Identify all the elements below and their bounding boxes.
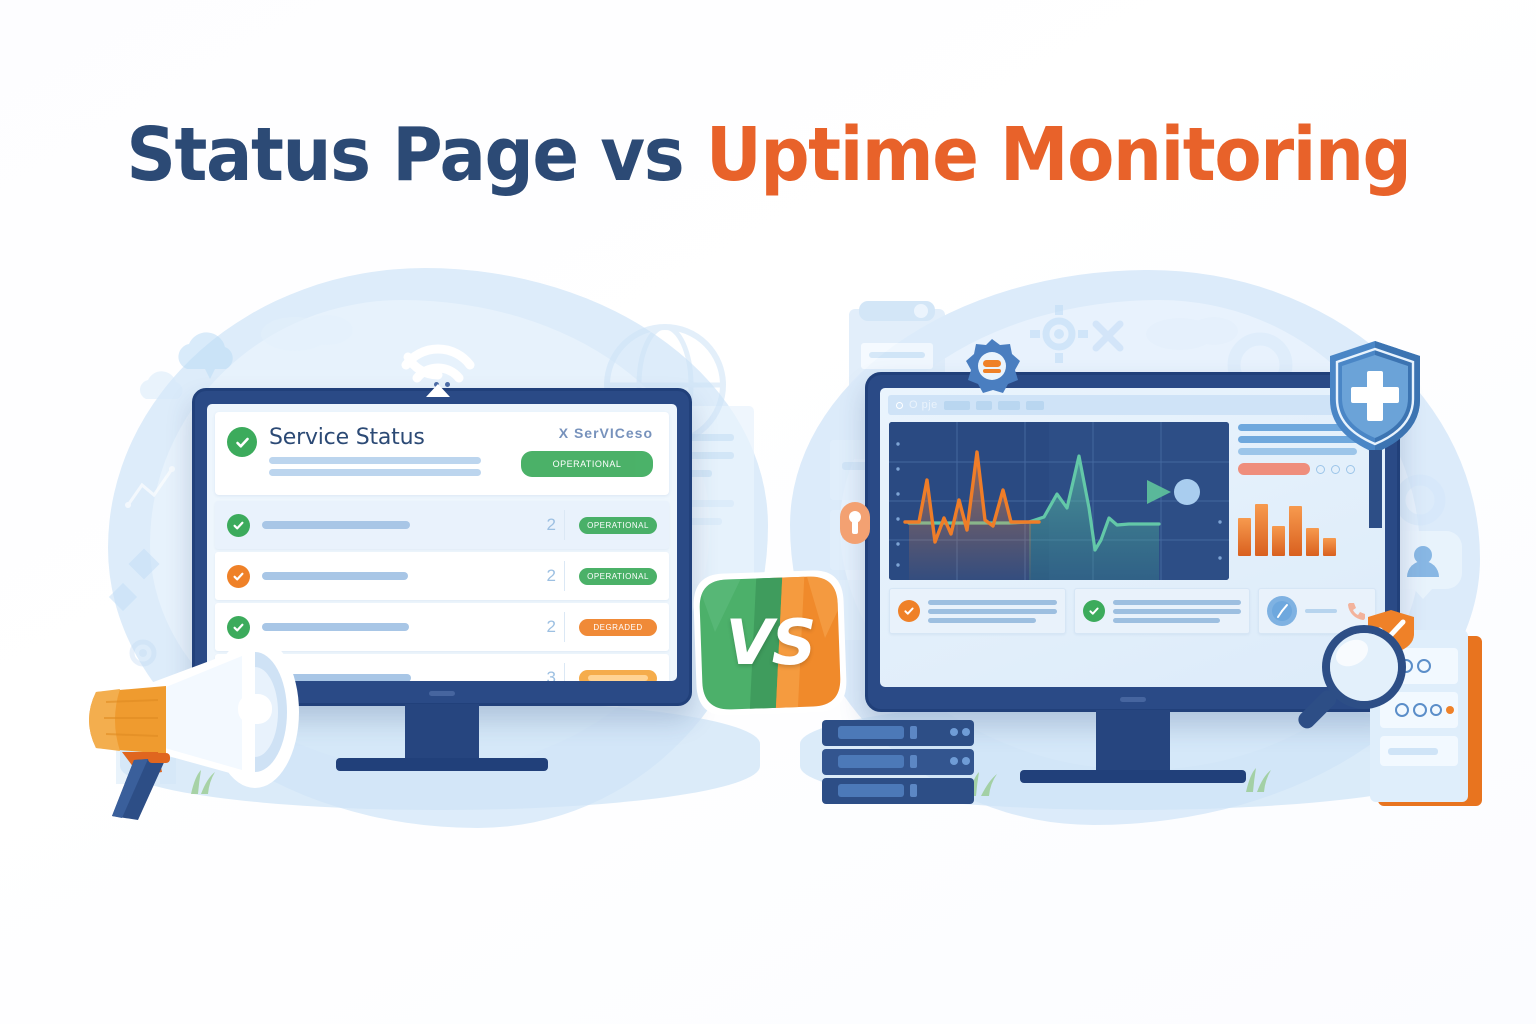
card-text-lines [1113, 600, 1242, 623]
magnifying-glass-icon [1290, 615, 1420, 745]
circle-icon [1346, 465, 1355, 474]
row-status-pill[interactable]: Operational [579, 568, 657, 585]
topbar-label: O pje [909, 399, 938, 411]
row-divider [564, 663, 565, 681]
row-status-pill[interactable]: Degraded [579, 619, 657, 636]
bar [1272, 526, 1285, 556]
row-divider [564, 561, 565, 591]
vs-badge: VS [685, 562, 855, 727]
topbar-segment [998, 401, 1020, 410]
row-divider [564, 510, 565, 540]
card-text-lines [928, 600, 1057, 623]
card-check-icon [1083, 600, 1105, 622]
bar [1255, 504, 1268, 556]
table-row[interactable]: 2 Operational [215, 501, 669, 549]
monitor-stand-neck [405, 704, 479, 760]
topbar-segment [1026, 401, 1044, 410]
topbar-segment [976, 401, 992, 410]
dashboard-topbar: O pje [888, 395, 1377, 415]
row-status-pill-label: Operational [587, 572, 649, 581]
response-time-chart [889, 422, 1229, 580]
megaphone-icon [62, 630, 342, 830]
card-check-icon [898, 600, 920, 622]
service-status-title: Service Status [269, 425, 481, 450]
status-card[interactable] [1074, 588, 1251, 634]
grass-icon [1240, 766, 1280, 792]
title-part-navy: Status Page vs [126, 112, 706, 198]
gear-icon [1030, 305, 1088, 363]
row-label-bar [262, 521, 410, 529]
side-pill-row [1238, 463, 1376, 475]
row-check-icon [227, 565, 250, 588]
brand-area: X SerVICeso Operational [521, 425, 655, 477]
title-part-orange: Uptime Monitoring [705, 112, 1410, 198]
row-divider [564, 612, 565, 642]
settings-badge-icon [962, 336, 1022, 396]
row-value: 2 [547, 566, 564, 586]
bar [1238, 518, 1251, 556]
bar [1306, 528, 1319, 556]
circle-icon [1316, 465, 1325, 474]
pill-inner-bar [588, 675, 649, 681]
side-pill [1238, 463, 1310, 475]
card-connector [1305, 609, 1337, 613]
row-status-pill[interactable]: Operational [579, 517, 657, 534]
server-stack-icon [818, 718, 998, 810]
wifi-icon [396, 335, 480, 401]
cloud-icon [130, 365, 200, 413]
circle-icon [1331, 465, 1340, 474]
location-pin-icon [103, 545, 177, 617]
row-value: 3 [547, 668, 564, 681]
incident-bar-chart [1238, 494, 1376, 556]
monitor-stand-neck [1096, 710, 1170, 772]
row-status-pill-label: Degraded [593, 623, 642, 632]
row-label-bar [262, 572, 408, 580]
illustration-canvas: Status Page vs Uptime Monitoring [0, 0, 1536, 1024]
header-text-lines [269, 457, 481, 481]
monitor-stand-base [336, 758, 548, 771]
header-status-button-label: Operational [553, 459, 622, 469]
row-check-icon [227, 514, 250, 537]
row-value: 2 [547, 515, 564, 535]
key-badge-icon [838, 500, 872, 546]
chart-svg [889, 422, 1229, 580]
status-card[interactable] [889, 588, 1066, 634]
dashboard-body [889, 422, 1376, 580]
shield-cross-icon [1325, 338, 1425, 456]
cloud-icon [255, 300, 365, 355]
table-row[interactable]: 2 Operational [215, 552, 669, 600]
close-icon [1090, 318, 1126, 354]
header-status-button[interactable]: Operational [521, 451, 653, 477]
brand-label: X SerVICeso [521, 425, 653, 441]
bar [1289, 506, 1302, 556]
monitor-stand-base [1020, 770, 1246, 783]
row-status-pill-label: Operational [587, 521, 649, 530]
row-status-pill[interactable] [579, 670, 657, 682]
page-title: Status Page vs Uptime Monitoring [0, 118, 1536, 192]
bar [1323, 538, 1336, 556]
topbar-segment [944, 401, 970, 410]
service-status-header: Service Status X SerVICeso Operational [215, 412, 669, 495]
status-check-icon [227, 427, 257, 457]
row-value: 2 [547, 617, 564, 637]
circle-icon [896, 402, 903, 409]
cloud-icon [1140, 300, 1250, 355]
analytics-icon [120, 455, 190, 525]
vs-badge-label: VS [685, 562, 855, 727]
